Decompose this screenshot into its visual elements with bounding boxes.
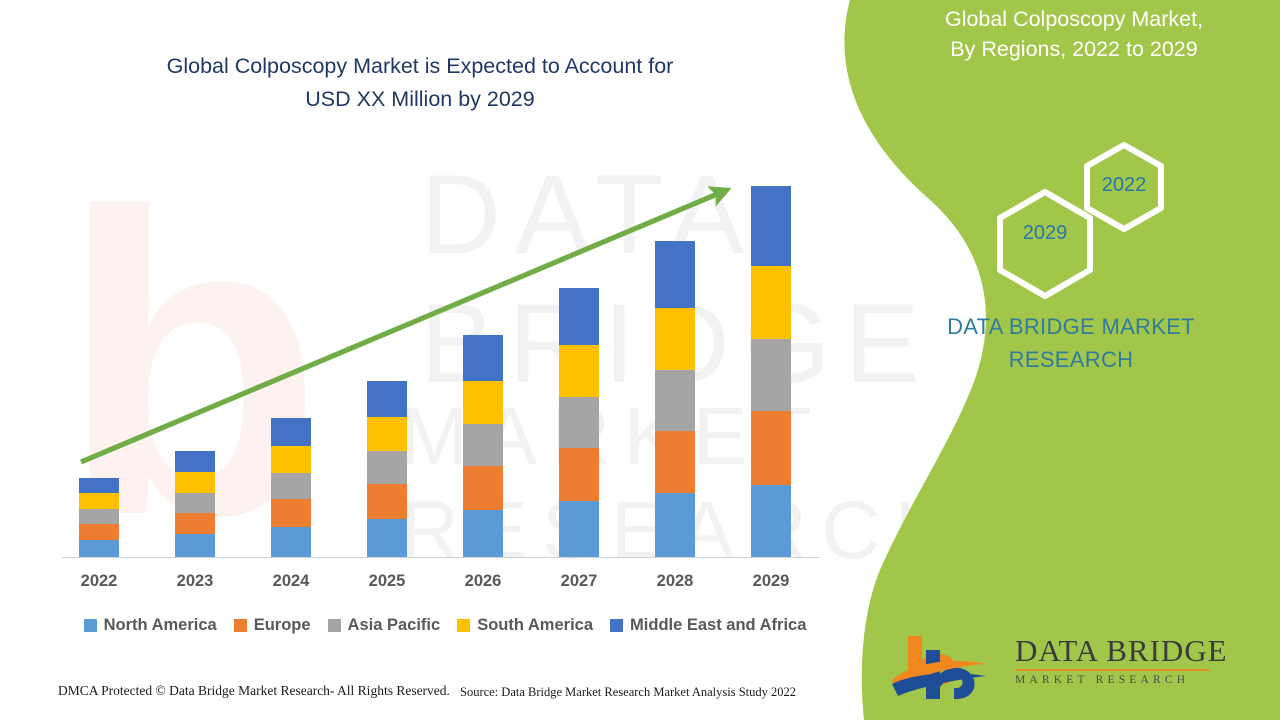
legend-swatch-icon bbox=[234, 619, 247, 632]
legend-label: South America bbox=[477, 616, 593, 635]
footer: DMCA Protected © Data Bridge Market Rese… bbox=[0, 683, 845, 709]
slide-canvas: b DATA BRIDGE MARKET RESEARCH Global Col… bbox=[0, 0, 1280, 720]
logo-sub-text: MARKET RESEARCH bbox=[1015, 674, 1228, 686]
panel-brand-name: DATA BRIDGE MARKET RESEARCH bbox=[820, 310, 1280, 376]
legend-swatch-icon bbox=[457, 619, 470, 632]
hex-badge-2022-label: 2022 bbox=[1084, 174, 1164, 197]
legend-label: North America bbox=[104, 616, 217, 635]
chart-plot-area: 20222023202420252026202720282029 bbox=[0, 0, 860, 720]
legend-item[interactable]: Asia Pacific bbox=[328, 616, 441, 635]
trend-arrow-icon bbox=[0, 0, 860, 600]
logo-wordmark: DATA BRIDGE MARKET RESEARCH bbox=[1015, 634, 1228, 686]
logo-divider bbox=[1015, 669, 1210, 671]
logo-main-text: DATA BRIDGE bbox=[1015, 634, 1228, 668]
legend-item[interactable]: Europe bbox=[234, 616, 311, 635]
panel-brand-line-1: DATA BRIDGE MARKET bbox=[880, 310, 1262, 343]
panel-brand-line-2: RESEARCH bbox=[880, 343, 1262, 376]
legend-label: Asia Pacific bbox=[348, 616, 441, 635]
legend-swatch-icon bbox=[84, 619, 97, 632]
legend-label: Europe bbox=[254, 616, 311, 635]
right-green-panel: Global Colposcopy Market, By Regions, 20… bbox=[820, 0, 1280, 720]
legend-swatch-icon bbox=[328, 619, 341, 632]
footer-copyright: DMCA Protected © Data Bridge Market Rese… bbox=[58, 683, 450, 699]
legend-item[interactable]: North America bbox=[84, 616, 217, 635]
chart-legend: North AmericaEuropeAsia PacificSouth Ame… bbox=[60, 616, 830, 635]
legend-swatch-icon bbox=[610, 619, 623, 632]
legend-item[interactable]: Middle East and Africa bbox=[610, 616, 806, 635]
legend-label: Middle East and Africa bbox=[630, 616, 806, 635]
logo-mark-icon bbox=[890, 630, 1000, 700]
legend-item[interactable]: South America bbox=[457, 616, 593, 635]
hex-badge-2029-label: 2029 bbox=[1005, 222, 1085, 245]
footer-source: Source: Data Bridge Market Research Mark… bbox=[460, 685, 796, 700]
company-logo: DATA BRIDGE MARKET RESEARCH bbox=[890, 630, 1280, 702]
